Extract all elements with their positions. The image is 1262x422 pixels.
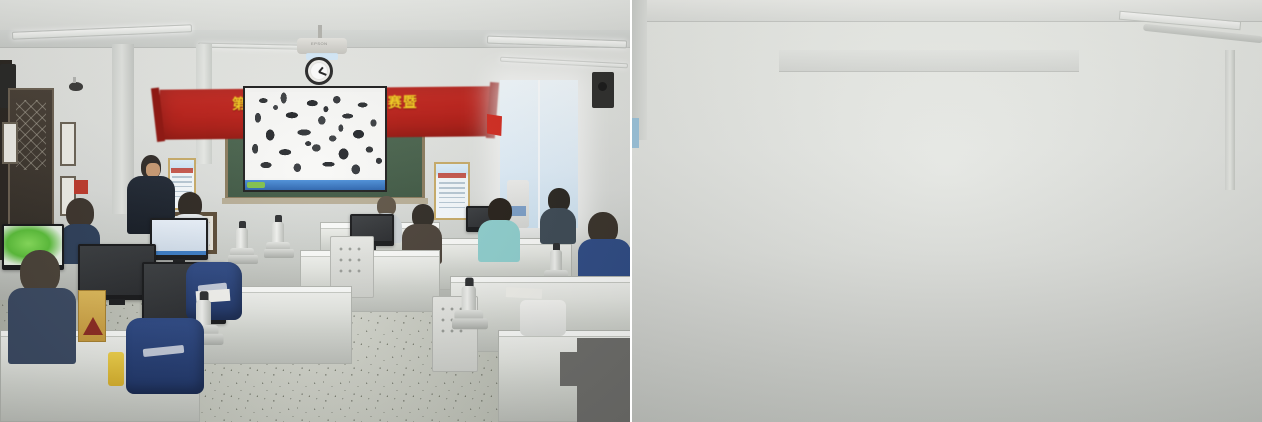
attendee-torso <box>478 220 520 262</box>
wall-speaker-icon <box>592 72 614 108</box>
bench-top <box>451 277 630 283</box>
microscope-base <box>452 318 488 329</box>
wall-blue-edge <box>631 118 639 148</box>
wall-clock-left <box>305 57 333 85</box>
chinese-flag-icon <box>487 114 502 136</box>
poster-text-line <box>439 192 466 194</box>
photo-divider <box>630 0 632 422</box>
attendee <box>478 198 520 258</box>
poster-text-line <box>439 182 466 184</box>
poster-text-line <box>439 202 466 204</box>
blue-backpack <box>126 318 204 394</box>
poster-text-line <box>439 207 466 209</box>
security-camera-icon <box>69 82 83 91</box>
windows-taskbar <box>245 180 385 190</box>
projected-image-area <box>245 88 385 190</box>
right-photo <box>631 0 1262 422</box>
projector-icon <box>297 38 347 54</box>
screenshot-root: 第三届哈尔滨 验技能大赛暨 第十届 赛选拔赛 <box>0 0 1262 422</box>
metallographic-micrograph <box>247 92 383 178</box>
projection-screen-left <box>243 86 387 192</box>
fire-safety-sign <box>74 180 88 194</box>
white-plastic-bag <box>520 300 566 336</box>
screen-header-beam <box>779 50 1079 72</box>
certificate-frame <box>2 122 18 164</box>
monitor-stand <box>109 299 125 305</box>
redaction-box <box>560 352 586 386</box>
yellow-box <box>108 352 124 386</box>
microscope-icon <box>452 286 495 339</box>
yellow-box <box>78 290 106 342</box>
attendee <box>540 188 576 240</box>
left-photo: 第三届哈尔滨 验技能大赛暨 第十届 赛选拔赛 <box>0 0 631 422</box>
door-grill-pattern <box>16 100 46 170</box>
attendee-torso <box>8 288 76 364</box>
attendee-torso <box>540 208 576 244</box>
papers-stack <box>506 287 542 299</box>
monitor-screen <box>152 220 206 255</box>
attendee-foreground <box>8 250 76 360</box>
microscope-base <box>264 249 294 258</box>
poster-text-line <box>439 197 466 199</box>
projector-mount <box>318 25 322 39</box>
certificate-frame <box>60 122 76 166</box>
poster-title-bar <box>438 173 466 178</box>
microscope-icon <box>264 222 294 258</box>
poster-text-line <box>439 187 466 189</box>
presenter-face <box>146 163 160 177</box>
wall-pipe <box>1225 50 1235 190</box>
monitor <box>150 218 208 260</box>
microscope-icon <box>228 228 258 264</box>
